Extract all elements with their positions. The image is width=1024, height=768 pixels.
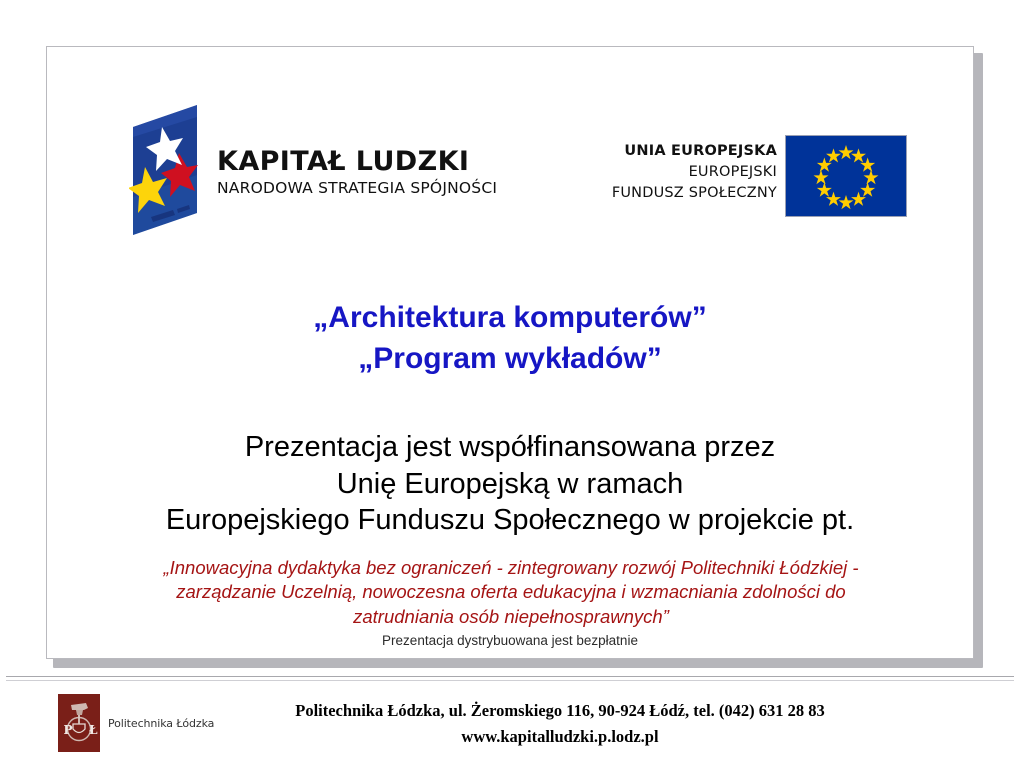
kapital-ludzki-stars-logo-icon: [129, 105, 201, 235]
slide-subtitle-line-3: Europejskiego Funduszu Społecznego w pro…: [47, 502, 973, 539]
eu-title-line: UNIA EUROPEJSKA: [547, 141, 777, 162]
kapital-ludzki-title: KAPITAŁ LUDZKI: [217, 147, 497, 176]
kapital-ludzki-subtitle: NARODOWA STRATEGIA SPÓJNOŚCI: [217, 179, 497, 198]
presentation-slide: KAPITAŁ LUDZKI NARODOWA STRATEGIA SPÓJNO…: [46, 46, 974, 659]
slide-subtitle: Prezentacja jest współfinansowana przez …: [47, 429, 973, 539]
footer-contact-block: Politechnika Łódzka, ul. Żeromskiego 116…: [180, 698, 940, 749]
slide-subtitle-line-2: Unię Europejską w ramach: [47, 466, 973, 503]
politechnika-lodzka-crest-icon: P Ł: [58, 694, 100, 752]
project-name-line-1: „Innowacyjna dydaktyka bez ograniczeń - …: [89, 556, 933, 580]
eu-subtitle-line-2: FUNDUSZ SPOŁECZNY: [547, 183, 777, 204]
project-name-line-3: zatrudniania osób niepełnosprawnych”: [89, 605, 933, 629]
footer-divider: [6, 676, 1014, 682]
european-union-flag-icon: [785, 135, 907, 217]
page-footer: P Ł Politechnika Łódzka Politechnika Łód…: [0, 690, 1024, 768]
footer-address-line: Politechnika Łódzka, ul. Żeromskiego 116…: [180, 698, 940, 724]
european-union-wordmark: UNIA EUROPEJSKA EUROPEJSKI FUNDUSZ SPOŁE…: [547, 141, 777, 204]
kapital-ludzki-wordmark: KAPITAŁ LUDZKI NARODOWA STRATEGIA SPÓJNO…: [217, 147, 497, 199]
divider-rule-bottom: [6, 680, 1014, 681]
slide-title-line-1: „Architektura komputerów”: [47, 297, 973, 338]
svg-text:P: P: [64, 723, 73, 737]
free-distribution-note: Prezentacja dystrybuowana jest bezpłatni…: [47, 633, 973, 649]
slide-title-line-2: „Program wykładów”: [47, 338, 973, 379]
project-name-line-2: zarządzanie Uczelnią, nowoczesna oferta …: [89, 580, 933, 604]
divider-rule-top: [6, 676, 1014, 677]
project-name-text: „Innowacyjna dydaktyka bez ograniczeń - …: [89, 556, 933, 629]
eu-subtitle-line-1: EUROPEJSKI: [547, 162, 777, 183]
slide-title: „Architektura komputerów” „Program wykła…: [47, 297, 973, 380]
footer-website-line: www.kapitalludzki.p.lodz.pl: [180, 724, 940, 750]
svg-text:Ł: Ł: [89, 723, 98, 737]
slide-subtitle-line-1: Prezentacja jest współfinansowana przez: [47, 429, 973, 466]
slide-logo-row: KAPITAŁ LUDZKI NARODOWA STRATEGIA SPÓJNO…: [47, 97, 973, 247]
